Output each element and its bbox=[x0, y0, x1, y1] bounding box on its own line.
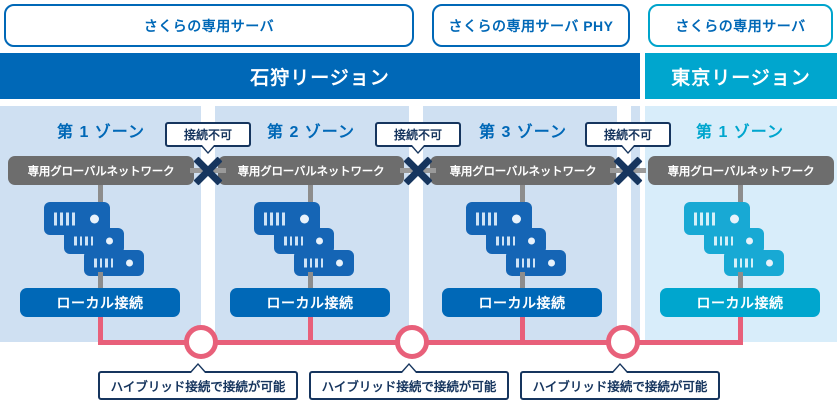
blocked-callout-label: 接続不可 bbox=[184, 126, 232, 143]
server-bars-icon bbox=[694, 212, 715, 225]
server-bars-icon bbox=[54, 212, 75, 225]
global-network-label: 専用グローバルネットワーク bbox=[238, 163, 385, 179]
server-led-icon bbox=[300, 214, 309, 223]
local-connection-bar-zone-4[interactable]: ローカル接続 bbox=[660, 288, 820, 317]
product-header-label: さくらの専用サーバ PHY bbox=[448, 16, 613, 36]
blocked-callout-1: 接続不可 bbox=[165, 122, 251, 147]
product-header-label: さくらの専用サーバ bbox=[144, 16, 274, 36]
hybrid-callout-3: ハイブリッド接続で接続が可能 bbox=[520, 371, 720, 400]
server-bars-icon bbox=[496, 237, 515, 246]
region-band-tokyo: 東京リージョン bbox=[645, 53, 837, 99]
server-bars-icon bbox=[516, 259, 535, 268]
product-header-label: さくらの専用サーバ bbox=[675, 16, 805, 36]
local-connection-bar-zone-2[interactable]: ローカル接続 bbox=[230, 288, 390, 317]
callout-tail bbox=[189, 363, 207, 373]
hybrid-drop-zone-4 bbox=[738, 317, 743, 342]
global-network-bar-zone-1[interactable]: 専用グローバルネットワーク bbox=[8, 156, 194, 185]
zone-label-text: 第 1 ゾーン bbox=[696, 124, 784, 141]
blocked-callout-3: 接続不可 bbox=[585, 122, 671, 147]
zone-label-text: 第 3 ゾーン bbox=[479, 124, 567, 141]
server-led-icon bbox=[336, 260, 343, 267]
zone-label-text: 第 2 ゾーン bbox=[267, 124, 355, 141]
region-band-ishikari: 石狩リージョン bbox=[0, 53, 640, 99]
server-led-icon bbox=[106, 238, 113, 245]
callout-tail bbox=[410, 145, 426, 154]
local-connection-label: ローカル接続 bbox=[267, 293, 354, 313]
local-connection-label: ローカル接続 bbox=[479, 293, 566, 313]
zone-label-4: 第 1 ゾーン bbox=[645, 118, 835, 142]
product-header-dedicated-server-tokyo[interactable]: さくらの専用サーバ bbox=[648, 4, 833, 47]
server-led-icon bbox=[90, 214, 99, 223]
global-network-label: 専用グローバルネットワーク bbox=[668, 163, 815, 179]
region-name: 石狩リージョン bbox=[250, 63, 390, 90]
server-icon-zone-3-c bbox=[506, 250, 566, 276]
server-bars-icon bbox=[304, 259, 323, 268]
blocked-callout-2: 接続不可 bbox=[375, 122, 461, 147]
local-connection-label: ローカル接続 bbox=[697, 293, 784, 313]
hybrid-callout-1: ハイブリッド接続で接続が可能 bbox=[98, 371, 298, 400]
server-bars-icon bbox=[476, 212, 497, 225]
global-network-bar-zone-4[interactable]: 専用グローバルネットワーク bbox=[648, 156, 834, 185]
callout-tail bbox=[400, 363, 418, 373]
blocked-x-icon-2 bbox=[401, 154, 435, 188]
global-network-label: 専用グローバルネットワーク bbox=[450, 163, 597, 179]
server-led-icon bbox=[548, 260, 555, 267]
hybrid-callout-label: ハイブリッド接続で接続が可能 bbox=[533, 376, 708, 395]
hybrid-drop-zone-1 bbox=[98, 317, 103, 342]
blocked-x-icon-1 bbox=[191, 154, 225, 188]
server-bars-icon bbox=[734, 259, 753, 268]
server-bars-icon bbox=[264, 212, 285, 225]
blocked-callout-label: 接続不可 bbox=[394, 126, 442, 143]
server-bars-icon bbox=[74, 237, 93, 246]
server-icon-zone-2-c bbox=[294, 250, 354, 276]
hybrid-callout-label: ハイブリッド接続で接続が可能 bbox=[322, 376, 497, 395]
hybrid-drop-zone-2 bbox=[308, 317, 313, 342]
global-network-bar-zone-3[interactable]: 専用グローバルネットワーク bbox=[430, 156, 616, 185]
blocked-x-icon-3 bbox=[611, 154, 645, 188]
server-led-icon bbox=[746, 238, 753, 245]
product-header-dedicated-server[interactable]: さくらの専用サーバ bbox=[4, 4, 414, 47]
callout-tail bbox=[611, 363, 629, 373]
zone-label-text: 第 1 ゾーン bbox=[57, 124, 145, 141]
server-led-icon bbox=[730, 214, 739, 223]
global-network-bar-zone-2[interactable]: 専用グローバルネットワーク bbox=[218, 156, 404, 185]
hybrid-node-2[interactable] bbox=[395, 325, 429, 359]
hybrid-callout-label: ハイブリッド接続で接続が可能 bbox=[111, 376, 286, 395]
server-bars-icon bbox=[94, 259, 113, 268]
server-bars-icon bbox=[284, 237, 303, 246]
callout-tail bbox=[620, 145, 636, 154]
local-connection-bar-zone-1[interactable]: ローカル接続 bbox=[20, 288, 180, 317]
server-icon-zone-4-c bbox=[724, 250, 784, 276]
local-connection-label: ローカル接続 bbox=[57, 293, 144, 313]
network-topology-diagram: さくらの専用サーバ さくらの専用サーバ PHY さくらの専用サーバ 石狩リージョ… bbox=[0, 0, 837, 406]
server-bars-icon bbox=[714, 237, 733, 246]
local-connection-bar-zone-3[interactable]: ローカル接続 bbox=[442, 288, 602, 317]
blocked-callout-label: 接続不可 bbox=[604, 126, 652, 143]
server-led-icon bbox=[126, 260, 133, 267]
hybrid-node-1[interactable] bbox=[184, 325, 218, 359]
product-header-dedicated-server-phy[interactable]: さくらの専用サーバ PHY bbox=[432, 4, 630, 47]
callout-tail bbox=[200, 145, 216, 154]
region-name: 東京リージョン bbox=[671, 63, 811, 90]
hybrid-drop-zone-3 bbox=[520, 317, 525, 342]
hybrid-node-3[interactable] bbox=[606, 325, 640, 359]
server-led-icon bbox=[766, 260, 773, 267]
server-led-icon bbox=[512, 214, 521, 223]
global-network-label: 専用グローバルネットワーク bbox=[28, 163, 175, 179]
server-icon-zone-1-c bbox=[84, 250, 144, 276]
server-led-icon bbox=[316, 238, 323, 245]
server-led-icon bbox=[528, 238, 535, 245]
hybrid-callout-2: ハイブリッド接続で接続が可能 bbox=[309, 371, 509, 400]
